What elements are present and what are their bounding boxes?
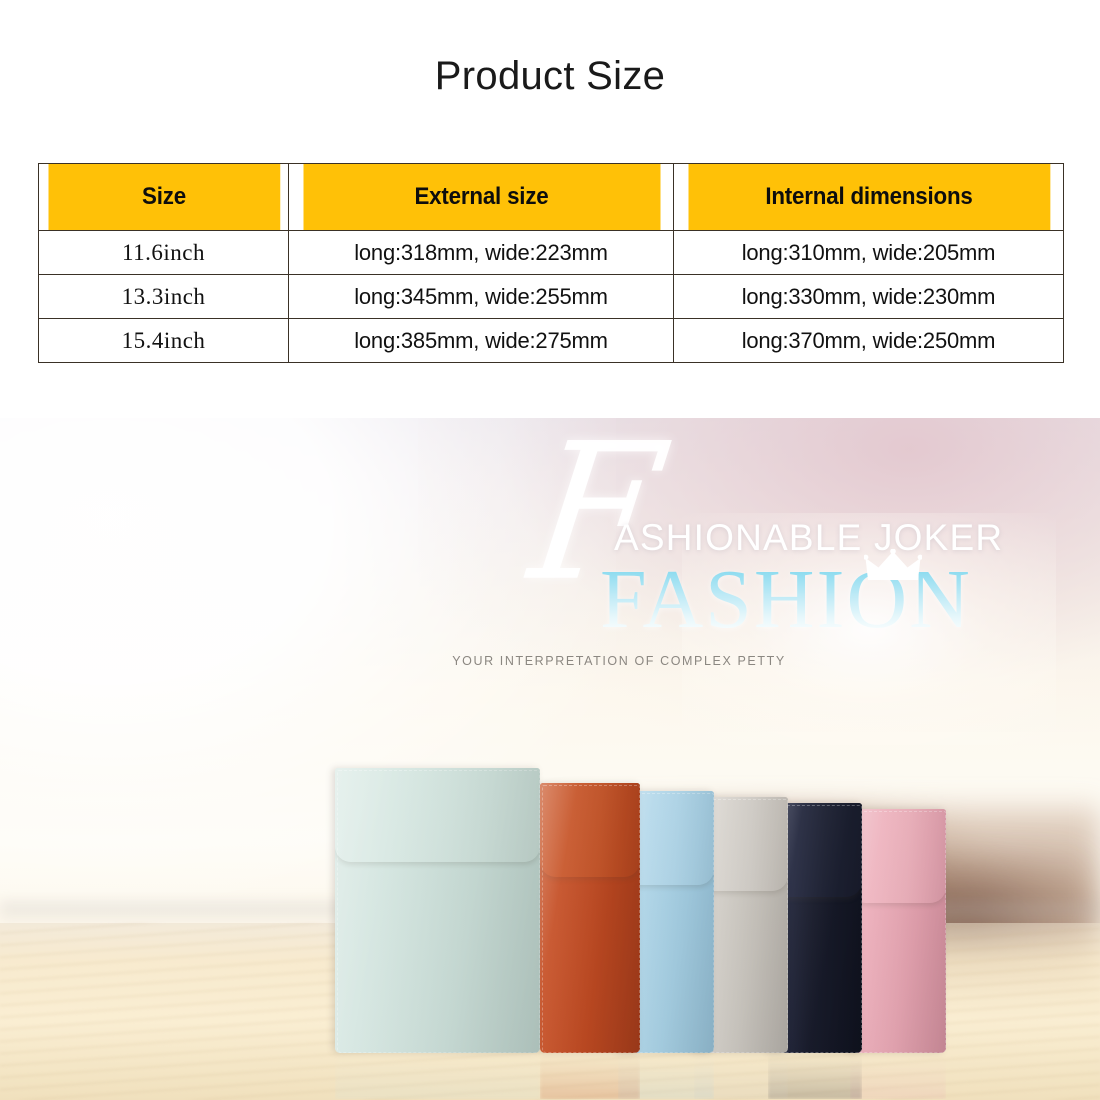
cell-internal: long:310mm, wide:205mm (674, 231, 1064, 275)
sleeve-body (335, 768, 540, 1053)
column-header-external: External size (302, 164, 660, 231)
product-size-section: Product Size Size External size Internal… (0, 0, 1100, 418)
sleeve-mint-green[interactable] (335, 768, 540, 1053)
cell-internal: long:330mm, wide:230mm (674, 275, 1064, 319)
product-lifestyle-photo: F ASHIONABLE JOKER FASHION YOUR INTERPRE… (0, 418, 1100, 1100)
column-header-size: Size (47, 164, 280, 231)
cell-external: long:318mm, wide:223mm (289, 231, 674, 275)
sleeve-body (850, 809, 946, 1053)
page-title: Product Size (0, 54, 1100, 99)
table-row: 11.6inch long:318mm, wide:223mm long:310… (39, 231, 1064, 275)
cell-size: 15.4inch (39, 319, 289, 363)
product-size-table: Size External size Internal dimensions 1… (38, 163, 1064, 363)
cell-size: 13.3inch (39, 275, 289, 319)
sleeve-rust-orange[interactable] (540, 783, 640, 1053)
sleeve-body (540, 783, 640, 1053)
cell-internal: long:370mm, wide:250mm (674, 319, 1064, 363)
table-row: 15.4inch long:385mm, wide:275mm long:370… (39, 319, 1064, 363)
sleeve-flap (540, 783, 640, 877)
sleeve-flap (335, 768, 540, 862)
sleeve-reflection (540, 1053, 640, 1099)
sleeve-flap (850, 809, 946, 903)
sleeve-reflection (335, 1053, 540, 1099)
cell-external: long:345mm, wide:255mm (289, 275, 674, 319)
cell-external: long:385mm, wide:275mm (289, 319, 674, 363)
laptop-sleeve-lineup (0, 418, 1100, 1100)
table-row: 13.3inch long:345mm, wide:255mm long:330… (39, 275, 1064, 319)
column-header-internal: Internal dimensions (687, 164, 1050, 231)
table-header-row: Size External size Internal dimensions (39, 164, 1064, 231)
sleeve-reflection (850, 1053, 946, 1099)
sleeve-pink[interactable] (850, 809, 946, 1053)
cell-size: 11.6inch (39, 231, 289, 275)
